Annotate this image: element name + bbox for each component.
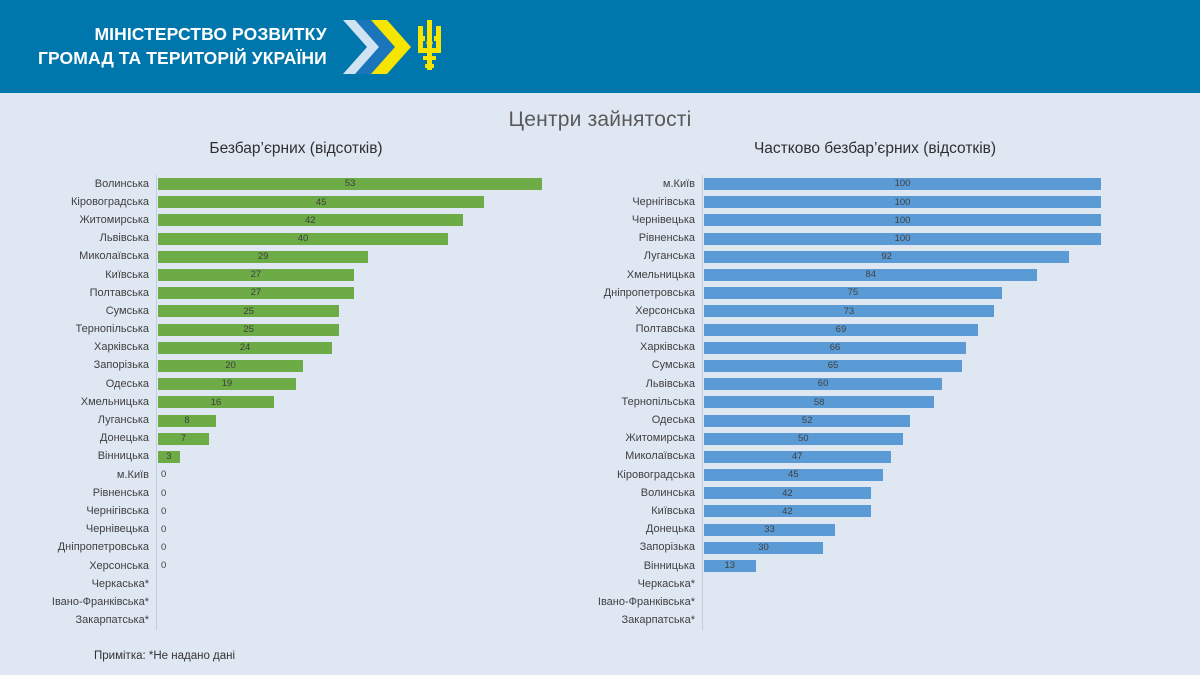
- bar-row: м.Київ100: [585, 175, 1175, 193]
- bar-row: Рівненська0: [30, 484, 590, 502]
- bar-value-label: 30: [758, 543, 769, 553]
- bar-category-label: Київська: [30, 270, 156, 281]
- bar-value-label: 20: [225, 361, 236, 371]
- bar-row: Закарпатська*: [585, 612, 1175, 630]
- bar-barrier-free: 27: [158, 287, 354, 299]
- bar-track: 73: [702, 302, 1175, 320]
- bar-partially-barrier-free: 65: [704, 360, 962, 372]
- header-branding: МІНІСТЕРСТВО РОЗВИТКУ ГРОМАД ТА ТЕРИТОРІ…: [38, 12, 441, 82]
- bar-row: Житомирська42: [30, 211, 590, 229]
- bar-value-label: 84: [865, 270, 876, 280]
- bar-track: 33: [702, 521, 1175, 539]
- bar-row: Чернігівська100: [585, 193, 1175, 211]
- bar-partially-barrier-free: 42: [704, 505, 871, 517]
- bar-partially-barrier-free: 60: [704, 378, 942, 390]
- bar-category-label: Миколаївська: [585, 451, 702, 462]
- bar-track: 25: [156, 321, 590, 339]
- bar-track: 53: [156, 175, 590, 193]
- bar-row: Донецька7: [30, 430, 590, 448]
- bar-track: 24: [156, 339, 590, 357]
- bar-track: 92: [702, 248, 1175, 266]
- bar-value-label: 45: [788, 470, 799, 480]
- bar-track: 50: [702, 430, 1175, 448]
- bar-value-label: 65: [828, 361, 839, 371]
- bar-category-label: Житомирська: [585, 433, 702, 444]
- bar-partially-barrier-free: 75: [704, 287, 1002, 299]
- bar-category-label: Черкаська*: [30, 579, 156, 590]
- footnote: Примітка: *Не надано дані: [94, 650, 235, 662]
- bar-track: 100: [702, 175, 1175, 193]
- bar-value-label: 100: [895, 234, 911, 244]
- bar-row: Чернігівська0: [30, 502, 590, 520]
- bar-row: Київська27: [30, 266, 590, 284]
- bar-row: Черкаська*: [30, 575, 590, 593]
- bar-partially-barrier-free: 100: [704, 178, 1101, 190]
- bar-barrier-free: 3: [158, 451, 180, 463]
- bar-category-label: Херсонська: [585, 306, 702, 317]
- bar-category-label: Полтавська: [30, 288, 156, 299]
- bar-barrier-free: 25: [158, 305, 339, 317]
- bar-barrier-free: 25: [158, 324, 339, 336]
- bar-value-label: 75: [848, 288, 859, 298]
- bar-track: 7: [156, 430, 590, 448]
- bar-category-label: Чернівецька: [30, 524, 156, 535]
- bar-value-label: 0: [161, 489, 166, 499]
- bar-partially-barrier-free: 100: [704, 233, 1101, 245]
- bar-value-label: 42: [782, 489, 793, 499]
- bar-value-label: 58: [814, 398, 825, 408]
- bar-row: Миколаївська29: [30, 248, 590, 266]
- bar-track: [702, 612, 1175, 630]
- bar-barrier-free: 53: [158, 178, 542, 190]
- bar-partially-barrier-free: 73: [704, 305, 994, 317]
- bar-value-label: 42: [782, 507, 793, 517]
- page-title: Центри зайнятості: [0, 108, 1200, 132]
- bar-track: 0: [156, 466, 590, 484]
- bar-category-label: Тернопільська: [30, 324, 156, 335]
- bar-barrier-free: 16: [158, 396, 274, 408]
- bar-track: [156, 593, 590, 611]
- bar-partially-barrier-free: 84: [704, 269, 1037, 281]
- bar-track: 8: [156, 411, 590, 429]
- bar-partially-barrier-free: 33: [704, 524, 835, 536]
- bar-track: 65: [702, 357, 1175, 375]
- bar-category-label: Херсонська: [30, 561, 156, 572]
- bar-category-label: Івано-Франківська*: [30, 597, 156, 608]
- bar-barrier-free: 29: [158, 251, 368, 263]
- bar-category-label: Хмельницька: [30, 397, 156, 408]
- bar-track: [702, 593, 1175, 611]
- bar-category-label: Кіровоградська: [30, 197, 156, 208]
- bar-track: 40: [156, 230, 590, 248]
- ministry-name: МІНІСТЕРСТВО РОЗВИТКУ ГРОМАД ТА ТЕРИТОРІ…: [38, 23, 327, 69]
- bar-track: 66: [702, 339, 1175, 357]
- bar-track: 42: [156, 211, 590, 229]
- bar-category-label: Волинська: [30, 179, 156, 190]
- bar-partially-barrier-free: 45: [704, 469, 883, 481]
- bar-track: 20: [156, 357, 590, 375]
- bar-category-label: Луганська: [30, 415, 156, 426]
- bar-row: Одеська19: [30, 375, 590, 393]
- bar-category-label: Тернопільська: [585, 397, 702, 408]
- bar-value-label: 13: [725, 561, 736, 571]
- ministry-chevron-trident-logo: [341, 12, 441, 82]
- bar-row: Кіровоградська45: [585, 466, 1175, 484]
- bar-value-label: 16: [211, 398, 222, 408]
- bar-value-label: 33: [764, 525, 775, 535]
- bar-barrier-free: 20: [158, 360, 303, 372]
- bar-value-label: 3: [166, 452, 171, 462]
- bar-partially-barrier-free: 66: [704, 342, 966, 354]
- bar-row: Луганська8: [30, 411, 590, 429]
- bar-row: Хмельницька84: [585, 266, 1175, 284]
- bar-track: 52: [702, 411, 1175, 429]
- bar-value-label: 0: [161, 543, 166, 553]
- bar-value-label: 25: [243, 325, 254, 335]
- bar-category-label: Вінницька: [30, 451, 156, 462]
- bar-partially-barrier-free: 13: [704, 560, 756, 572]
- bar-row: м.Київ0: [30, 466, 590, 484]
- bar-value-label: 100: [895, 179, 911, 189]
- bar-row: Луганська92: [585, 248, 1175, 266]
- bar-row: Волинська42: [585, 484, 1175, 502]
- bar-category-label: Івано-Франківська*: [585, 597, 702, 608]
- bar-value-label: 19: [222, 379, 233, 389]
- bar-barrier-free: 42: [158, 214, 463, 226]
- bar-category-label: Рівненська: [30, 488, 156, 499]
- bar-track: 0: [156, 484, 590, 502]
- bar-barrier-free: 7: [158, 433, 209, 445]
- bar-track: 69: [702, 321, 1175, 339]
- bar-category-label: Закарпатська*: [585, 615, 702, 626]
- bar-value-label: 66: [830, 343, 841, 353]
- bar-track: 100: [702, 193, 1175, 211]
- bar-category-label: Кіровоградська: [585, 470, 702, 481]
- bar-track: 100: [702, 211, 1175, 229]
- chart-panel-partially-barrier-free: Частково безбар’єрних (відсотків) м.Київ…: [585, 140, 1175, 630]
- bar-track: 0: [156, 521, 590, 539]
- header-band: МІНІСТЕРСТВО РОЗВИТКУ ГРОМАД ТА ТЕРИТОРІ…: [0, 0, 1200, 93]
- bar-track: 29: [156, 248, 590, 266]
- bar-value-label: 25: [243, 307, 254, 317]
- bar-track: 84: [702, 266, 1175, 284]
- bar-category-label: Сумська: [30, 306, 156, 317]
- bar-value-label: 50: [798, 434, 809, 444]
- bar-track: 42: [702, 484, 1175, 502]
- bar-chart-partially-barrier-free: м.Київ100Чернігівська100Чернівецька100Рі…: [585, 175, 1175, 630]
- bar-value-label: 7: [181, 434, 186, 444]
- bar-value-label: 0: [161, 507, 166, 517]
- bar-value-label: 8: [184, 416, 189, 426]
- bar-category-label: Чернігівська: [30, 506, 156, 517]
- bar-value-label: 53: [345, 179, 356, 189]
- chart-subtitle-left: Безбар’єрних (відсотків): [30, 140, 590, 158]
- bar-barrier-free: 40: [158, 233, 448, 245]
- bar-category-label: Донецька: [585, 524, 702, 535]
- bar-category-label: Миколаївська: [30, 251, 156, 262]
- bar-row: Полтавська27: [30, 284, 590, 302]
- bar-row: Рівненська100: [585, 230, 1175, 248]
- bar-row: Львівська60: [585, 375, 1175, 393]
- bar-category-label: Чернівецька: [585, 215, 702, 226]
- bar-partially-barrier-free: 100: [704, 196, 1101, 208]
- bar-value-label: 92: [881, 252, 892, 262]
- bar-value-label: 69: [836, 325, 847, 335]
- bar-row: Кіровоградська45: [30, 193, 590, 211]
- chart-panel-barrier-free: Безбар’єрних (відсотків) Волинська53Кіро…: [30, 140, 590, 630]
- chart-subtitle-right: Частково безбар’єрних (відсотків): [585, 140, 1175, 158]
- bar-category-label: Одеська: [30, 379, 156, 390]
- bar-partially-barrier-free: 50: [704, 433, 903, 445]
- bar-track: [156, 575, 590, 593]
- bar-chart-barrier-free: Волинська53Кіровоградська45Житомирська42…: [30, 175, 590, 630]
- bar-value-label: 47: [792, 452, 803, 462]
- bar-category-label: Закарпатська*: [30, 615, 156, 626]
- bar-track: 30: [702, 539, 1175, 557]
- bar-row: Одеська52: [585, 411, 1175, 429]
- bar-barrier-free: 19: [158, 378, 296, 390]
- bar-category-label: Запорізька: [30, 360, 156, 371]
- bar-row: Вінницька13: [585, 557, 1175, 575]
- bar-category-label: Харківська: [30, 342, 156, 353]
- bar-category-label: Одеська: [585, 415, 702, 426]
- bar-row: Полтавська69: [585, 321, 1175, 339]
- bar-value-label: 42: [305, 216, 316, 226]
- bar-category-label: Сумська: [585, 360, 702, 371]
- bar-category-label: Харківська: [585, 342, 702, 353]
- bar-row: Херсонська0: [30, 557, 590, 575]
- bar-track: 25: [156, 302, 590, 320]
- bar-category-label: м.Київ: [30, 470, 156, 481]
- bar-row: Дніпропетровська75: [585, 284, 1175, 302]
- bar-track: 47: [702, 448, 1175, 466]
- bar-category-label: Полтавська: [585, 324, 702, 335]
- bar-track: 58: [702, 393, 1175, 411]
- bar-partially-barrier-free: 100: [704, 214, 1101, 226]
- bar-value-label: 24: [240, 343, 251, 353]
- bar-row: Донецька33: [585, 521, 1175, 539]
- bar-track: 45: [156, 193, 590, 211]
- bar-barrier-free: 24: [158, 342, 332, 354]
- bar-category-label: Черкаська*: [585, 579, 702, 590]
- bar-partially-barrier-free: 52: [704, 415, 910, 427]
- bar-category-label: Донецька: [30, 433, 156, 444]
- bar-row: Миколаївська47: [585, 448, 1175, 466]
- bar-partially-barrier-free: 30: [704, 542, 823, 554]
- bar-track: [156, 612, 590, 630]
- bar-value-label: 40: [298, 234, 309, 244]
- bar-category-label: Львівська: [585, 379, 702, 390]
- bar-row: Харківська66: [585, 339, 1175, 357]
- bar-track: [702, 575, 1175, 593]
- bar-value-label: 0: [161, 470, 166, 480]
- bar-category-label: Луганська: [585, 251, 702, 262]
- bar-category-label: Волинська: [585, 488, 702, 499]
- bar-track: 42: [702, 502, 1175, 520]
- bar-category-label: Хмельницька: [585, 270, 702, 281]
- bar-row: Тернопільська58: [585, 393, 1175, 411]
- bar-row: Вінницька3: [30, 448, 590, 466]
- bar-category-label: Дніпропетровська: [585, 288, 702, 299]
- bar-track: 0: [156, 557, 590, 575]
- bar-track: 27: [156, 284, 590, 302]
- bar-track: 13: [702, 557, 1175, 575]
- bar-row: Волинська53: [30, 175, 590, 193]
- bar-category-label: Чернігівська: [585, 197, 702, 208]
- bar-category-label: Вінницька: [585, 561, 702, 572]
- bar-track: 19: [156, 375, 590, 393]
- bar-row: Івано-Франківська*: [585, 593, 1175, 611]
- bar-partially-barrier-free: 47: [704, 451, 891, 463]
- bar-row: Тернопільська25: [30, 321, 590, 339]
- bar-track: 16: [156, 393, 590, 411]
- bar-value-label: 100: [895, 198, 911, 208]
- bar-partially-barrier-free: 58: [704, 396, 934, 408]
- bar-track: 0: [156, 502, 590, 520]
- bar-value-label: 73: [844, 307, 855, 317]
- bar-value-label: 0: [161, 561, 166, 571]
- bar-row: Запорізька30: [585, 539, 1175, 557]
- bar-value-label: 0: [161, 525, 166, 535]
- bar-partially-barrier-free: 92: [704, 251, 1069, 263]
- bar-category-label: Дніпропетровська: [30, 542, 156, 553]
- bar-row: Харківська24: [30, 339, 590, 357]
- bar-row: Хмельницька16: [30, 393, 590, 411]
- bar-row: Львівська40: [30, 230, 590, 248]
- bar-row: Івано-Франківська*: [30, 593, 590, 611]
- bar-track: 60: [702, 375, 1175, 393]
- bar-row: Черкаська*: [585, 575, 1175, 593]
- bar-value-label: 29: [258, 252, 269, 262]
- bar-row: Дніпропетровська0: [30, 539, 590, 557]
- bar-track: 100: [702, 230, 1175, 248]
- bar-row: Запорізька20: [30, 357, 590, 375]
- bar-value-label: 60: [818, 379, 829, 389]
- bar-barrier-free: 8: [158, 415, 216, 427]
- bar-track: 0: [156, 539, 590, 557]
- bar-row: Київська42: [585, 502, 1175, 520]
- bar-value-label: 100: [895, 216, 911, 226]
- bar-partially-barrier-free: 42: [704, 487, 871, 499]
- bar-row: Сумська25: [30, 302, 590, 320]
- bar-value-label: 27: [251, 288, 262, 298]
- bar-category-label: Київська: [585, 506, 702, 517]
- bar-track: 45: [702, 466, 1175, 484]
- bar-value-label: 27: [251, 270, 262, 280]
- bar-partially-barrier-free: 69: [704, 324, 978, 336]
- bar-barrier-free: 45: [158, 196, 484, 208]
- bar-value-label: 52: [802, 416, 813, 426]
- bar-category-label: Львівська: [30, 233, 156, 244]
- bar-barrier-free: 27: [158, 269, 354, 281]
- bar-row: Закарпатська*: [30, 612, 590, 630]
- bar-track: 3: [156, 448, 590, 466]
- bar-row: Чернівецька100: [585, 211, 1175, 229]
- bar-track: 27: [156, 266, 590, 284]
- bar-row: Херсонська73: [585, 302, 1175, 320]
- bar-track: 75: [702, 284, 1175, 302]
- bar-category-label: м.Київ: [585, 179, 702, 190]
- bar-category-label: Рівненська: [585, 233, 702, 244]
- bar-row: Сумська65: [585, 357, 1175, 375]
- bar-category-label: Житомирська: [30, 215, 156, 226]
- bar-value-label: 45: [316, 198, 327, 208]
- bar-category-label: Запорізька: [585, 542, 702, 553]
- bar-row: Житомирська50: [585, 430, 1175, 448]
- bar-row: Чернівецька0: [30, 521, 590, 539]
